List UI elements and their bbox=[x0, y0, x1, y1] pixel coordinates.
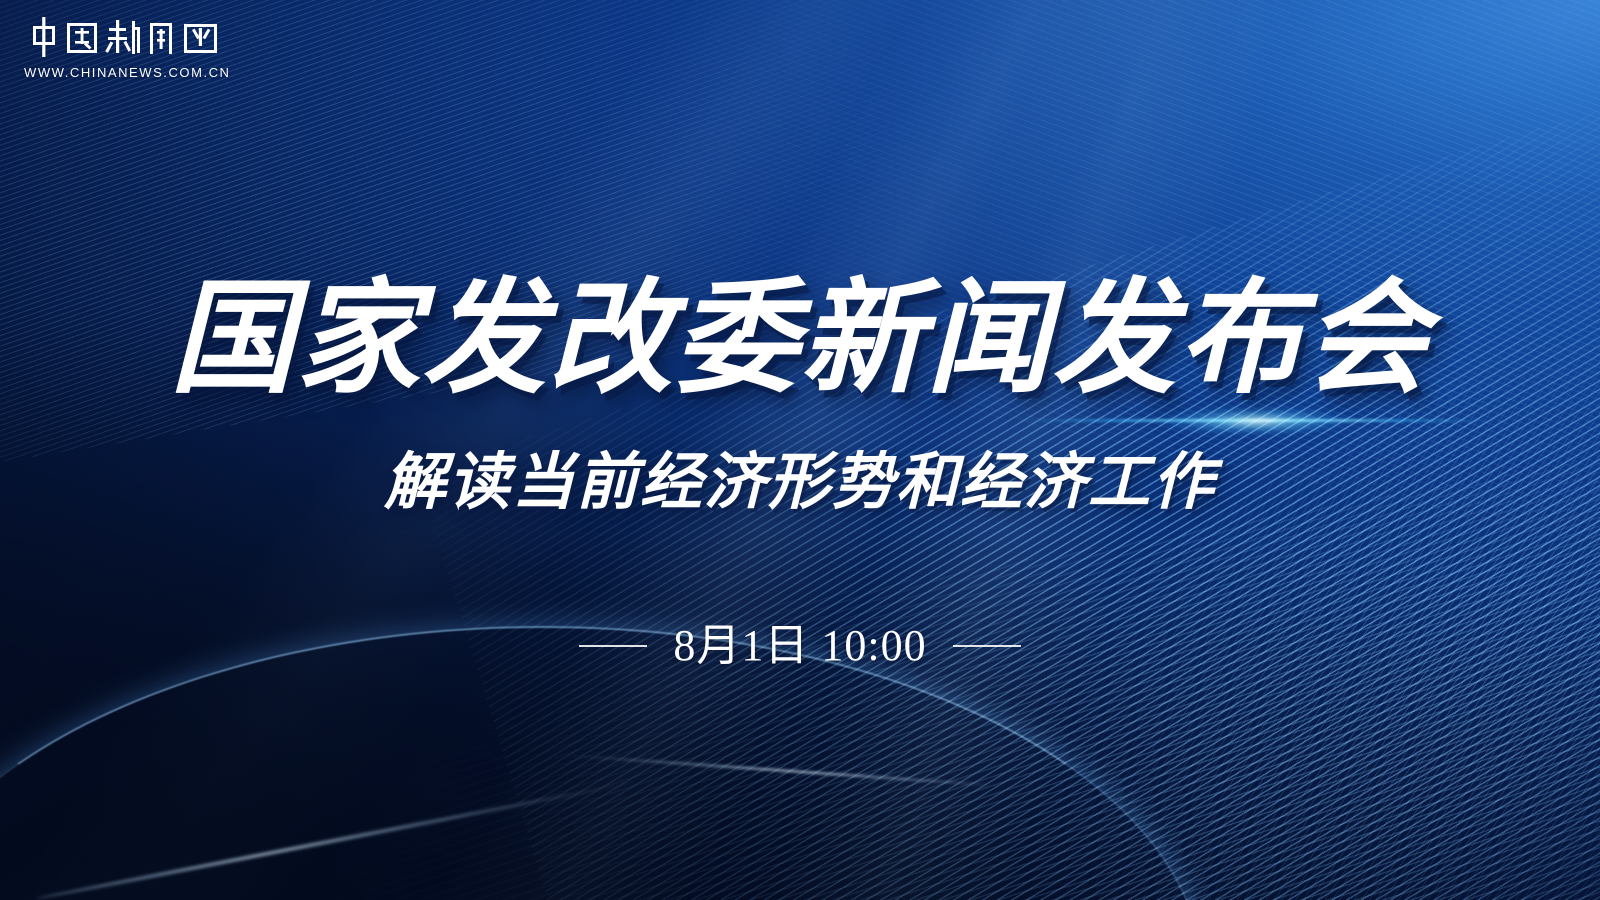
schedule-row: 8月1日 10:00 bbox=[0, 618, 1600, 674]
logo-url-text: WWW.CHINANEWS.COM.CN bbox=[24, 65, 234, 80]
lens-flare-bloom bbox=[1160, 408, 1350, 434]
page-subtitle: 解读当前经济形势和经济工作 bbox=[0, 447, 1600, 519]
news-conference-poster: WWW.CHINANEWS.COM.CN 国家发改委新闻发布会 解读当前经济形势… bbox=[0, 0, 1600, 900]
lens-flare-streak bbox=[1020, 414, 1490, 428]
arc-highlight-right bbox=[560, 753, 989, 787]
lens-flare-line bbox=[1020, 419, 1490, 422]
arc-highlight-left bbox=[35, 778, 645, 900]
rule-right bbox=[953, 645, 1021, 647]
site-logo[interactable]: WWW.CHINANEWS.COM.CN bbox=[24, 14, 234, 80]
rule-left bbox=[579, 645, 647, 647]
page-title: 国家发改委新闻发布会 bbox=[0, 272, 1600, 406]
schedule-datetime: 8月1日 10:00 bbox=[673, 618, 926, 674]
chinanews-logo-icon bbox=[24, 14, 220, 60]
